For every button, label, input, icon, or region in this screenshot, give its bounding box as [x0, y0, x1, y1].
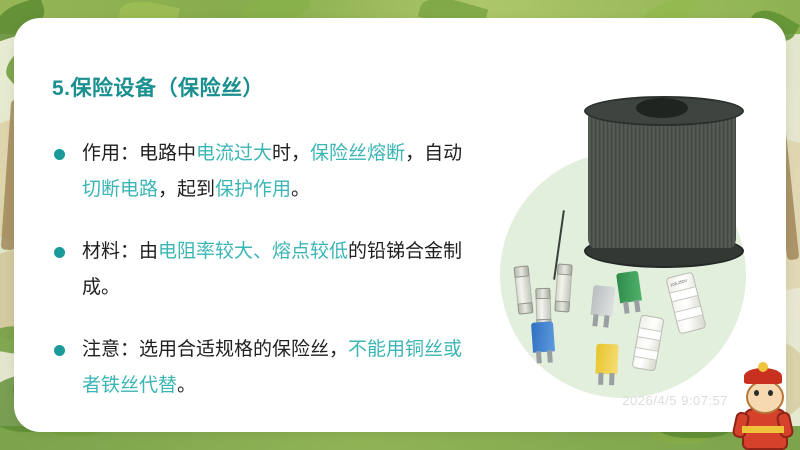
bullet-list: 作用：电路中电流过大时，保险丝熔断，自动切断电路，起到保护作用。 材料：由电阻率… [52, 136, 472, 404]
blade-fuse-body [616, 271, 642, 304]
bullet-segment: 材料：由 [82, 241, 158, 262]
content-card: 5.保险设备（保险丝） 作用：电路中电流过大时，保险丝熔断，自动切断电路，起到保… [14, 18, 786, 432]
bullet-segment: 注意：选用合适规格的保险丝， [82, 339, 348, 360]
cartridge-fuse-text: 10A 250V [670, 278, 688, 288]
list-item: 作用：电路中电流过大时，保险丝熔断，自动切断电路，起到保护作用。 [52, 136, 472, 208]
blade-fuse-grey [590, 285, 615, 317]
bullet-segment-highlight: 电阻率较大、熔点较低 [158, 241, 348, 262]
list-item: 注意：选用合适规格的保险丝，不能用铜丝或者铁丝代替。 [52, 332, 472, 404]
blade-fuse-yellow [595, 344, 618, 375]
spool-wire-body [588, 108, 736, 248]
bullet-dot-icon [54, 247, 65, 258]
bullet-segment: 时， [272, 143, 310, 164]
wire-spool-image [578, 96, 746, 268]
blade-fuse-body [531, 321, 555, 352]
page-title: 5.保险设备（保险丝） [52, 72, 264, 102]
cartridge-stripe [675, 306, 703, 322]
timestamp: 2026/4/5 9:07:57 [622, 393, 728, 408]
blade-fuse-body [590, 285, 615, 317]
slide: 5.保险设备（保险丝） 作用：电路中电流过大时，保险丝熔断，自动切断电路，起到保… [0, 0, 800, 450]
spool-hub [636, 98, 688, 118]
mascot-hat-ball [758, 362, 768, 372]
blade-fuse-body [595, 344, 618, 375]
bullet-dot-icon [54, 345, 65, 356]
list-item: 材料：由电阻率较大、熔点较低的铅锑合金制成。 [52, 234, 472, 306]
mascot-eye-left [754, 390, 759, 396]
mascot-belt [742, 426, 784, 433]
cartridge-stripe [670, 286, 698, 302]
blade-fuse-green [616, 271, 642, 304]
bullet-segment: 。 [177, 375, 196, 396]
bullet-segment-highlight: 保险丝熔断 [310, 143, 405, 164]
mascot-eye-right [768, 390, 773, 396]
bullet-segment-highlight: 电流过大 [196, 143, 272, 164]
bullet-segment: ，自动 [405, 143, 462, 164]
cartridge-stripe [634, 347, 657, 361]
bullet-segment: 作用：电路中 [82, 143, 196, 164]
cartridge-stripe [638, 327, 661, 341]
blade-fuse-blue [531, 321, 555, 352]
mascot-head [746, 380, 784, 414]
bullet-segment-highlight: 保护作用 [215, 179, 291, 200]
bullet-segment-highlight: 切断电路 [82, 179, 158, 200]
bullet-segment: 。 [291, 179, 310, 200]
bullet-segment: ，起到 [158, 179, 215, 200]
tiger-mascot [732, 368, 794, 450]
bullet-dot-icon [54, 149, 65, 160]
